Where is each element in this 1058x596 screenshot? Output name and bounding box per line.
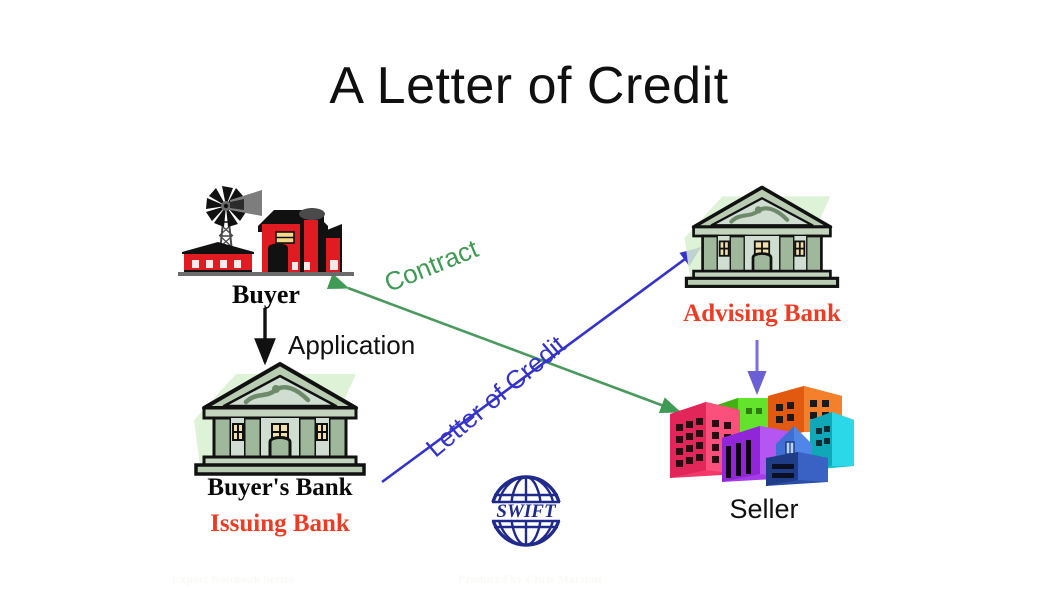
seller-label: Seller bbox=[664, 494, 864, 525]
issuing-bank-label: Issuing Bank bbox=[180, 510, 380, 538]
advising-bank-label: Advising Bank bbox=[672, 300, 852, 328]
swift-wordmark: SWIFT bbox=[496, 501, 557, 522]
edge-label-application: Application bbox=[288, 330, 415, 361]
footer-right: Produced by Chris Marston bbox=[458, 572, 601, 587]
city-buildings-icon bbox=[664, 382, 864, 492]
globe-icon: SWIFT bbox=[480, 470, 572, 552]
footer-left: Export Notebook Series bbox=[172, 572, 294, 587]
node-buyers-bank[interactable]: Buyer's Bank Issuing Bank bbox=[180, 358, 380, 538]
node-swift[interactable]: SWIFT bbox=[480, 470, 572, 552]
farm-icon bbox=[176, 176, 356, 286]
bank-building-icon bbox=[672, 176, 852, 296]
slide-canvas: A Letter of Credit bbox=[0, 0, 1058, 596]
node-advising-bank[interactable]: Advising Bank bbox=[672, 176, 852, 341]
bank-building-icon bbox=[180, 358, 380, 478]
buyers-bank-label: Buyer's Bank bbox=[180, 474, 380, 502]
buyer-label: Buyer bbox=[176, 280, 356, 310]
node-seller[interactable]: Seller bbox=[664, 382, 864, 532]
node-buyer[interactable]: Buyer bbox=[176, 176, 356, 316]
